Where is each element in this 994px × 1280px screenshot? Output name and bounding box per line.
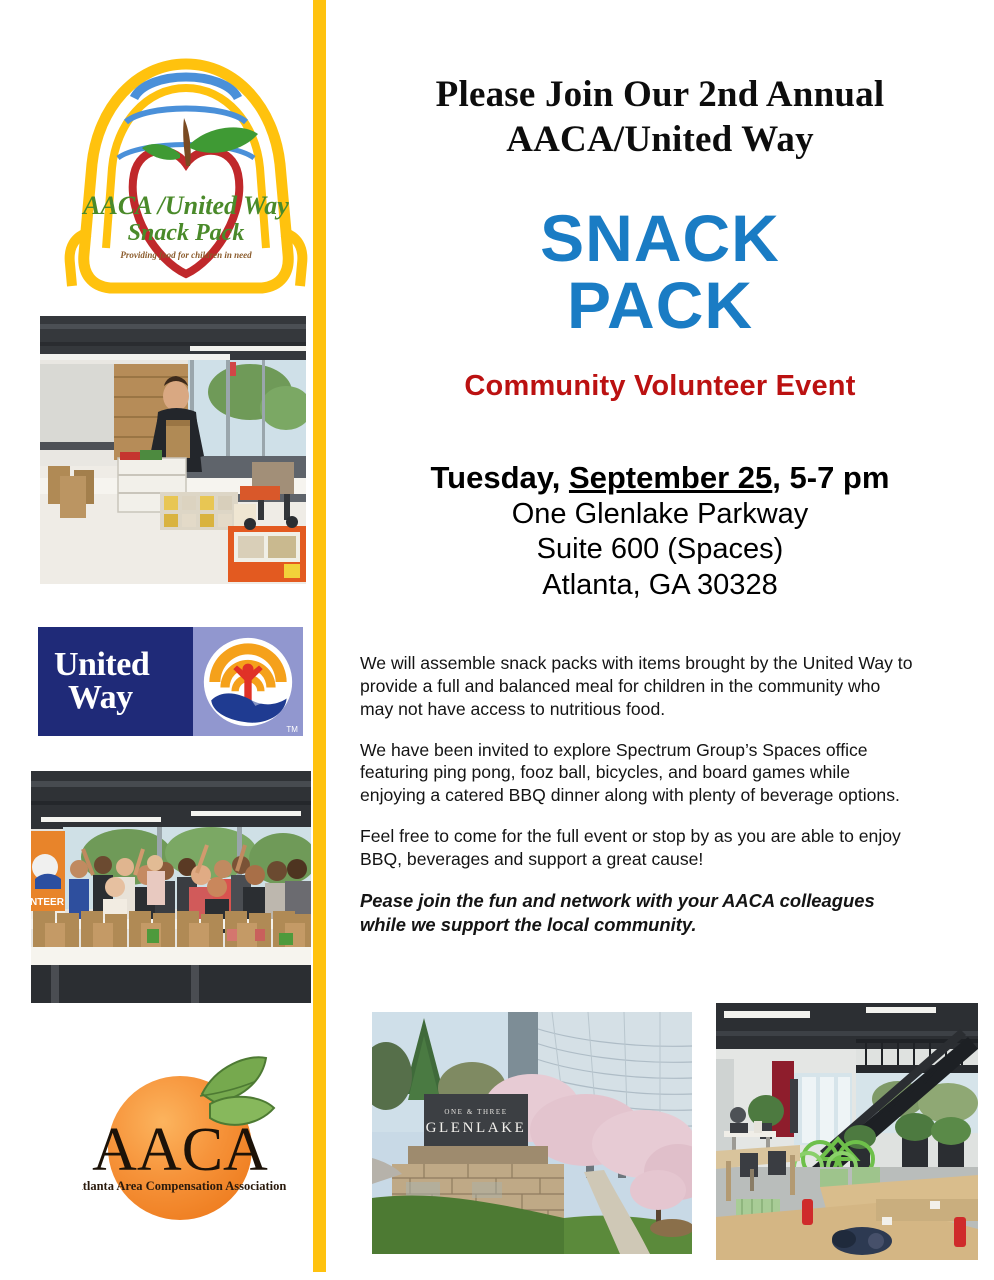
left-column: AACA /United Way Snack Pack Providing fo…: [0, 0, 313, 1280]
aaca-tagline: Atlanta Area Compensation Association: [82, 1179, 286, 1193]
photo-spaces-office: [716, 1003, 978, 1260]
snack-pack-logo: AACA /United Way Snack Pack Providing fo…: [62, 48, 310, 300]
headline-line-1: Please Join Our 2nd Annual: [346, 72, 974, 117]
event-date-prefix: Tuesday,: [431, 460, 569, 495]
description-paragraph-2: We have been invited to explore Spectrum…: [360, 739, 914, 808]
description-paragraph-3: Feel free to come for the full event or …: [360, 825, 914, 871]
headline-line-2: AACA/United Way: [346, 117, 974, 162]
flyer-page: AACA /United Way Snack Pack Providing fo…: [0, 0, 994, 1280]
united-way-logo: United Way TM: [38, 627, 303, 736]
united-way-word1: United: [54, 649, 193, 681]
photo-group-volunteers: NTEER: [31, 771, 311, 1003]
glenlake-sign-line-2: GLENLAKE: [426, 1120, 527, 1136]
page-headline: Please Join Our 2nd Annual AACA/United W…: [346, 72, 974, 162]
aaca-logo: AACA Atlanta Area Compensation Associati…: [82, 1038, 287, 1233]
description-paragraph-1: We will assemble snack packs with items …: [360, 652, 914, 721]
event-details: Tuesday, September 25, 5-7 pm One Glenla…: [346, 459, 974, 603]
united-way-word2: Way: [54, 682, 193, 714]
event-address-line-2: Suite 600 (Spaces): [346, 532, 974, 567]
event-description: We will assemble snack packs with items …: [360, 652, 914, 938]
aaca-acronym: AACA: [92, 1116, 268, 1184]
snackpack-logo-line1: AACA /United Way: [81, 191, 289, 220]
glenlake-sign-line-1: ONE & THREE: [444, 1108, 507, 1116]
snack-pack-title: SNACK PACK: [346, 205, 974, 340]
photo-glenlake-sign: ONE & THREE GLENLAKE: [372, 1012, 692, 1254]
united-way-emblem: TM: [193, 627, 303, 736]
event-address-line-3: Atlanta, GA 30328: [346, 568, 974, 603]
event-date-emphasis: September 25: [569, 460, 772, 495]
snack-title-line-2: PACK: [346, 272, 974, 339]
united-way-wordmark: United Way: [38, 627, 193, 736]
right-column: Please Join Our 2nd Annual AACA/United W…: [326, 0, 994, 1280]
volunteer-banner-text: NTEER: [31, 897, 65, 908]
snack-title-line-1: SNACK: [346, 205, 974, 272]
vertical-divider-bar: [313, 0, 326, 1272]
snackpack-logo-line2: Snack Pack: [128, 220, 245, 246]
event-address-line-1: One Glenlake Parkway: [346, 497, 974, 532]
event-date-suffix: , 5-7 pm: [772, 460, 889, 495]
event-subtitle: Community Volunteer Event: [346, 370, 974, 403]
snackpack-logo-tagline: Providing food for children in need: [120, 250, 252, 260]
photo-volunteer-packing: [40, 316, 306, 584]
description-closing: Pease join the fun and network with your…: [360, 889, 914, 938]
united-way-trademark: TM: [286, 725, 298, 734]
event-date-line: Tuesday, September 25, 5-7 pm: [346, 459, 974, 497]
